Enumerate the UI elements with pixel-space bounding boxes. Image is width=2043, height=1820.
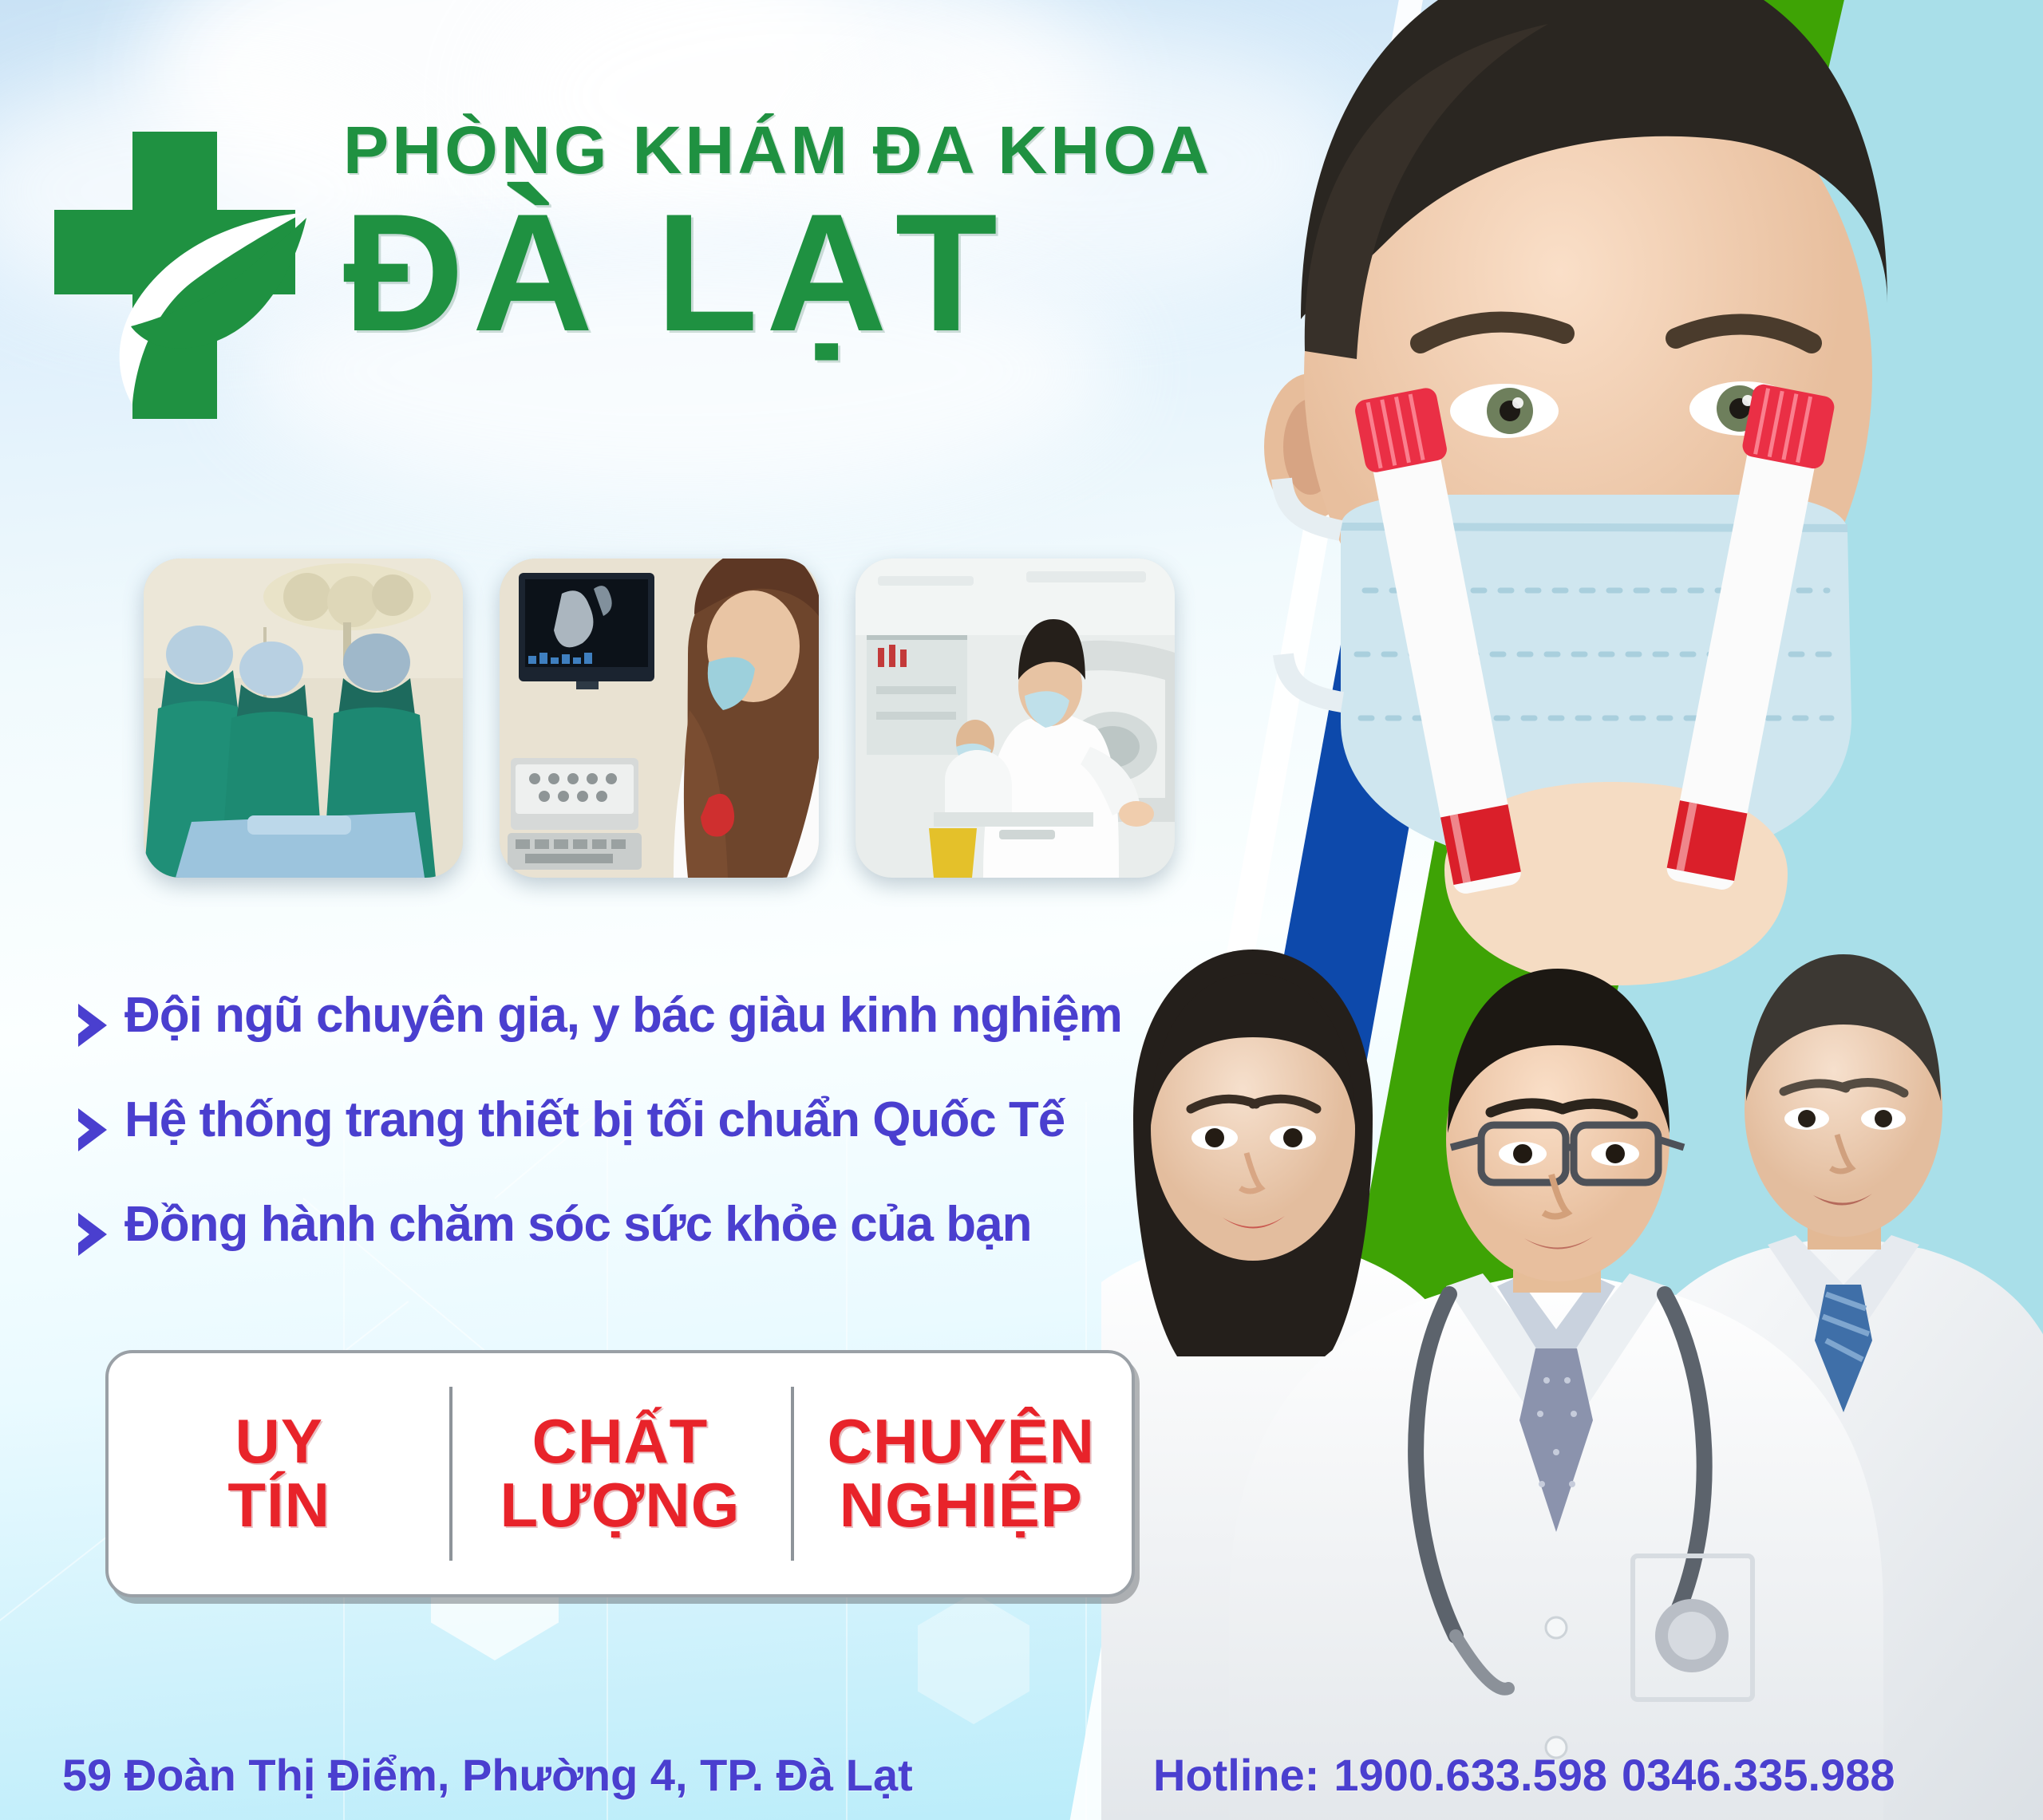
hotline-number-secondary[interactable]: 0346.335.988 xyxy=(1622,1750,1895,1800)
brand-line-2: ĐÀ LẠT xyxy=(343,195,1237,349)
feature-text: Đồng hành chăm sóc sức khỏe của bạn xyxy=(124,1198,1032,1251)
feature-item: Đội ngũ chuyên gia, y bác giàu kinh nghi… xyxy=(70,989,1379,1054)
green-medical-cross-with-leaf-icon xyxy=(46,124,310,427)
photo-ultrasound-examination xyxy=(500,559,819,878)
feature-text: Đội ngũ chuyên gia, y bác giàu kinh nghi… xyxy=(124,989,1122,1042)
feature-item: Hệ thống trang thiết bị tối chuẩn Quốc T… xyxy=(70,1094,1379,1159)
photo-laboratory-analysis xyxy=(856,559,1175,878)
feature-text: Hệ thống trang thiết bị tối chuẩn Quốc T… xyxy=(124,1094,1065,1147)
value-line-1: UY xyxy=(235,1410,322,1474)
feature-list: Đội ngũ chuyên gia, y bác giàu kinh nghi… xyxy=(70,989,1379,1303)
brand-line-1: PHÒNG KHÁM ĐA KHOA xyxy=(343,112,1255,189)
hotline-block: Hotline:1900.633.5980346.335.988 xyxy=(1153,1749,1895,1801)
hotline-label: Hotline: xyxy=(1153,1750,1319,1800)
value-item-chat-luong: CHẤT LƯỢNG xyxy=(449,1353,790,1594)
brand-wordmark: PHÒNG KHÁM ĐA KHOA ĐÀ LẠT xyxy=(343,112,1237,349)
facility-photo-strip xyxy=(144,559,1175,878)
chevron-right-icon xyxy=(70,1094,113,1159)
value-line-2: NGHIỆP xyxy=(840,1474,1083,1538)
value-item-chuyen-nghiep: CHUYÊN NGHIỆP xyxy=(791,1353,1132,1594)
clinic-advertisement-banner: PHÒNG KHÁM ĐA KHOA ĐÀ LẠT xyxy=(0,0,2043,1820)
value-item-uy-tin: UY TÍN xyxy=(109,1353,449,1594)
chevron-right-icon xyxy=(70,989,113,1054)
clinic-logo xyxy=(46,124,310,427)
value-line-1: CHẤT xyxy=(532,1410,709,1474)
value-proposition-box: UY TÍN CHẤT LƯỢNG CHUYÊN NGHIỆP xyxy=(105,1350,1135,1597)
hotline-number-primary[interactable]: 1900.633.598 xyxy=(1334,1750,1607,1800)
photo-surgery-operating-room xyxy=(144,559,463,878)
chevron-right-icon xyxy=(70,1198,113,1263)
clinic-address: 59 Đoàn Thị Điểm, Phường 4, TP. Đà Lạt xyxy=(62,1749,913,1801)
value-line-1: CHUYÊN xyxy=(828,1410,1095,1474)
value-line-2: TÍN xyxy=(227,1474,330,1538)
value-line-2: LƯỢNG xyxy=(500,1474,741,1538)
feature-item: Đồng hành chăm sóc sức khỏe của bạn xyxy=(70,1198,1379,1263)
